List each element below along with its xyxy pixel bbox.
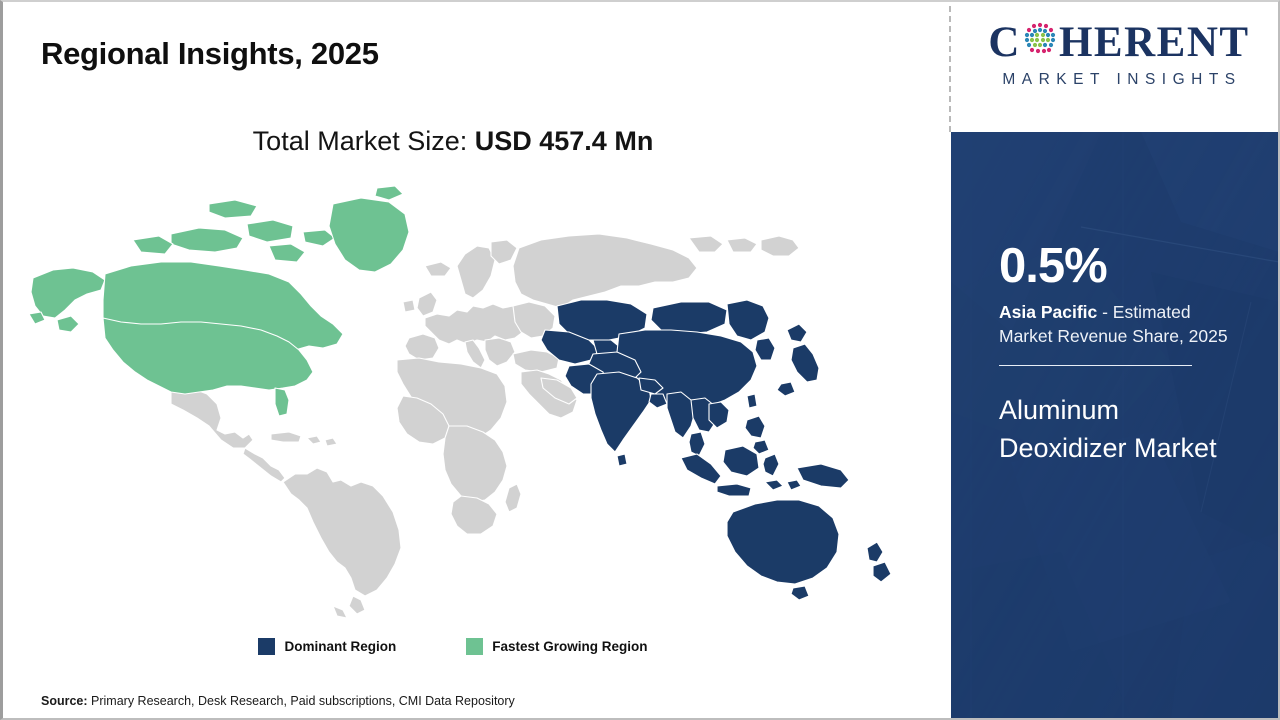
source-note: Source: Primary Research, Desk Research,… [41,694,515,708]
legend-item-fastest-growing: Fastest Growing Region [466,638,647,655]
rail-region-name: Asia Pacific [999,302,1097,322]
legend-label-fastest-growing: Fastest Growing Region [492,639,647,654]
map-legend: Dominant Region Fastest Growing Region [3,638,903,655]
legend-label-dominant: Dominant Region [284,639,396,654]
rail-market-name: Aluminum Deoxidizer Market [999,392,1239,467]
rail-description: Asia Pacific - Estimated Market Revenue … [999,300,1239,348]
logo-letter-c: C [988,21,1021,64]
highlight-rail: 0.5% Asia Pacific - Estimated Market Rev… [951,132,1279,718]
brand-logo: C [963,20,1275,116]
logo-letters-herent: HERENT [1059,21,1250,64]
vertical-dashed-divider [949,6,951,132]
logo-wordmark: C [963,20,1275,64]
rail-content: 0.5% Asia Pacific - Estimated Market Rev… [999,242,1239,467]
legend-swatch-dominant [258,638,275,655]
legend-swatch-fastest-growing [466,638,483,655]
market-size-label: Total Market Size: [253,126,475,156]
dotted-globe-icon [1022,20,1058,64]
map-region-dominant [541,300,891,600]
legend-item-dominant: Dominant Region [258,638,396,655]
total-market-size: Total Market Size: USD 457.4 Mn [3,126,903,157]
rail-divider-rule [999,365,1192,366]
page-title: Regional Insights, 2025 [41,36,379,72]
infographic-page: Regional Insights, 2025 Total Market Siz… [0,0,1280,720]
source-text: Primary Research, Desk Research, Paid su… [88,694,515,708]
source-label: Source: [41,694,88,708]
world-map-svg [21,182,901,622]
map-region-fastest-growing [29,186,409,416]
left-content-pane: Regional Insights, 2025 Total Market Siz… [3,2,951,718]
market-size-value: USD 457.4 Mn [475,126,654,156]
rail-percent-value: 0.5% [999,242,1239,291]
world-map [21,182,901,622]
logo-subtitle: MARKET INSIGHTS [963,71,1275,89]
